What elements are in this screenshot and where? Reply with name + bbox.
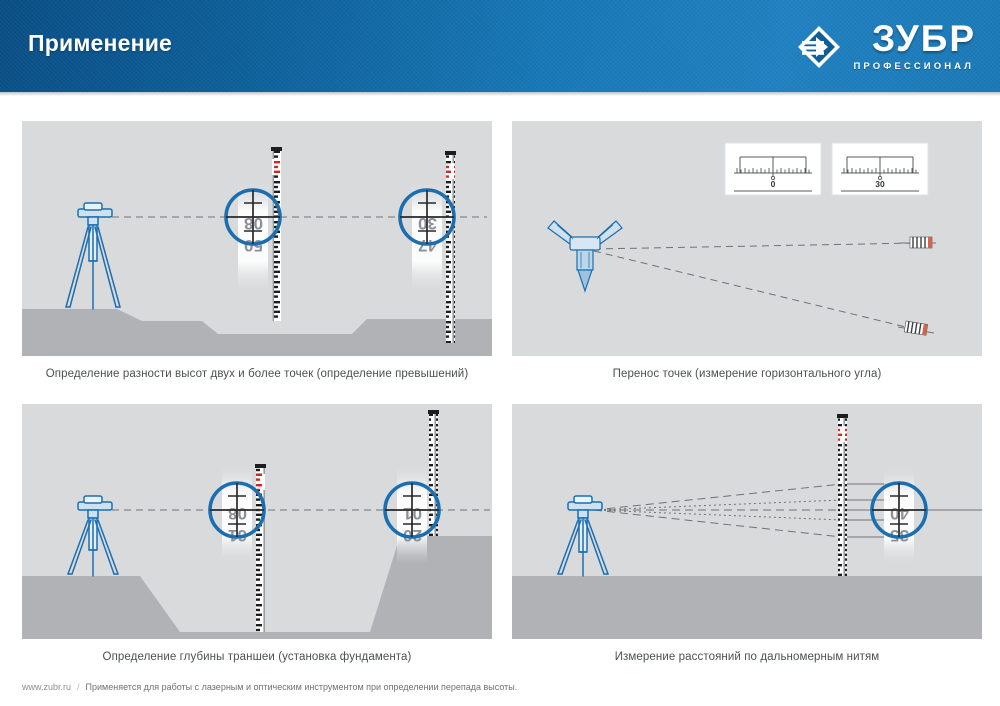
illustration-trench-depth: 61 08 20 01 [22,404,492,639]
panel-caption: Определение разности высот двух и более … [22,356,492,380]
illustration-height-difference: 50 08 47 30 [22,121,492,356]
scope-view-1 [210,483,264,537]
footer-website[interactable]: www.zubr.ru [22,682,71,692]
panel-caption: Определение глубины траншеи (установка ф… [22,639,492,663]
header-divider [0,92,1000,96]
panel-point-transfer: 0 [512,121,982,380]
panel-caption: Измерение расстояний по дальномерным нит… [512,639,982,663]
footer-note: Применяется для работы с лазерным и опти… [86,682,518,692]
logo-wordmark: ЗУБР ПРОФЕССИОНАЛ [853,22,976,72]
logo-name: ЗУБР [872,22,976,56]
scope-view-1 [872,483,926,537]
page-header: Применение ЗУБР ПРОФЕССИОНАЛ [0,0,1000,92]
angle-value-thirty: 30 [875,179,885,189]
measuring-staff-1 [837,414,848,576]
scope-view-2 [385,483,439,537]
illustration-stadia-distance: 35 40 [512,404,982,639]
logo-subtitle: ПРОФЕССИОНАЛ [853,61,974,72]
panel-stadia-distance: 35 40 Измерение расстояний по дальномерн… [512,404,982,663]
page-title: Применение [28,30,172,57]
panel-trench-depth: 61 08 20 01 [22,404,492,663]
angle-readout-zero: 0 [725,143,821,195]
angle-value-zero: 0 [771,179,776,189]
panel-height-difference: 50 08 47 30 [22,121,492,380]
page-footer: www.zubr.ru / Применяется для работы с л… [22,682,517,692]
scope-view-1 [226,190,280,244]
scope-view-2 [400,190,454,244]
diamond-arrow-icon [796,24,842,70]
measuring-staff-2 [445,151,456,343]
panel-caption: Перенос точек (измерение горизонтального… [512,356,982,380]
angle-readout-thirty: 30 [832,143,928,195]
footer-separator: / [77,682,80,692]
brand-logo: ЗУБР ПРОФЕССИОНАЛ [796,22,976,72]
illustration-point-transfer: 0 [512,121,982,356]
